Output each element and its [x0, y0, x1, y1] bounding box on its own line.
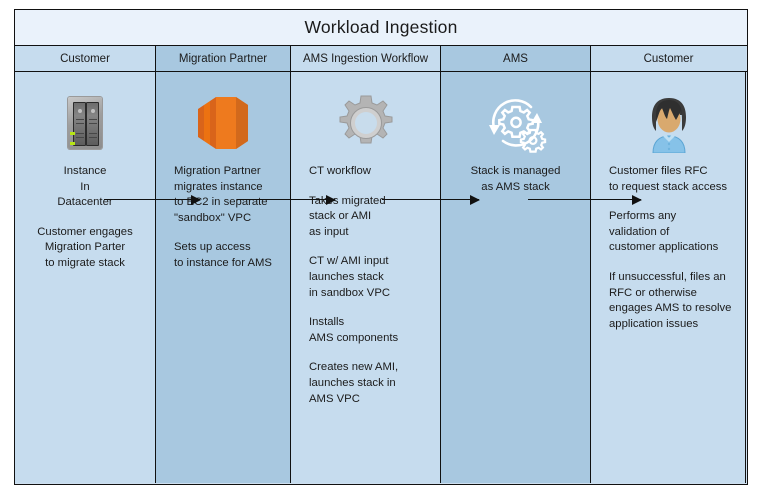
- swimlane-diagram: Workload Ingestion Customer Migration Pa…: [14, 9, 748, 485]
- flow-arrow-ec2-to-gear: [237, 199, 335, 200]
- lane-header-customer-2: Customer: [591, 46, 746, 71]
- lane-header-row: Customer Migration Partner AMS Ingestion…: [15, 46, 747, 72]
- lane-text-migration-partner: Migration Partner migrates instance to E…: [156, 164, 290, 272]
- lane-paragraph: Sets up access to instance for AMS: [174, 240, 284, 271]
- flow-arrow-ams-to-customer: [528, 199, 641, 200]
- lane-header-label: Customer: [644, 53, 694, 65]
- lane-header-ams-ingestion-workflow: AMS Ingestion Workflow: [291, 46, 441, 71]
- lane-paragraph: Customer files RFC to request stack acce…: [609, 164, 739, 195]
- lane-ams: Stack is managed as AMS stack: [441, 72, 591, 483]
- lane-paragraph: Stack is managed as AMS stack: [441, 164, 590, 195]
- lane-paragraph: Creates new AMI, launches stack in AMS V…: [309, 360, 434, 407]
- customer-person-icon-slot: [591, 90, 745, 156]
- lane-text-customer-1: Instance In Datacenter Customer engages …: [15, 164, 155, 272]
- lane-paragraph: If unsuccessful, files an RFC or otherwi…: [609, 270, 739, 332]
- lane-header-label: Customer: [60, 53, 110, 65]
- managed-gears-icon: [485, 94, 547, 152]
- lane-text-customer-2: Customer files RFC to request stack acce…: [591, 164, 745, 332]
- lane-header-label: AMS: [503, 53, 528, 65]
- flow-arrow-rack-to-ec2: [104, 199, 200, 200]
- lane-header-label: Migration Partner: [179, 53, 267, 65]
- flow-arrow-gear-to-ams: [382, 199, 479, 200]
- lane-text-ams-ingestion-workflow: CT workflow Takes migrated stack or AMI …: [291, 164, 440, 407]
- lane-paragraph: Installs AMS components: [309, 315, 434, 346]
- lane-paragraph: CT workflow: [309, 164, 434, 180]
- lane-customer-2: Customer files RFC to request stack acce…: [591, 72, 746, 483]
- server-rack-icon: [68, 97, 102, 149]
- server-rack-icon-slot: [15, 90, 155, 156]
- lane-ams-ingestion-workflow: CT workflow Takes migrated stack or AMI …: [291, 72, 441, 483]
- lane-migration-partner: Migration Partner migrates instance to E…: [156, 72, 291, 483]
- lane-text-ams: Stack is managed as AMS stack: [441, 164, 590, 195]
- lane-header-ams: AMS: [441, 46, 591, 71]
- diagram-title: Workload Ingestion: [304, 17, 457, 38]
- diagram-title-band: Workload Ingestion: [15, 10, 747, 46]
- lane-paragraph: CT w/ AMI input launches stack in sandbo…: [309, 254, 434, 301]
- lane-paragraph: Instance In Datacenter: [15, 164, 155, 211]
- ec2-instance-icon: [192, 95, 254, 151]
- gear-icon-slot: [291, 90, 440, 156]
- lane-header-customer-1: Customer: [15, 46, 156, 71]
- lane-body-row: Instance In Datacenter Customer engages …: [15, 72, 747, 483]
- lane-paragraph: Customer engages Migration Parter to mig…: [15, 225, 155, 272]
- managed-gears-icon-slot: [441, 90, 590, 156]
- customer-person-icon: [644, 95, 692, 151]
- lane-header-label: AMS Ingestion Workflow: [303, 53, 428, 65]
- ec2-icon-slot: [156, 90, 290, 156]
- gear-workflow-icon: [338, 95, 394, 151]
- lane-header-migration-partner: Migration Partner: [156, 46, 291, 71]
- lane-customer-1: Instance In Datacenter Customer engages …: [15, 72, 156, 483]
- lane-paragraph: Performs any validation of customer appl…: [609, 209, 739, 256]
